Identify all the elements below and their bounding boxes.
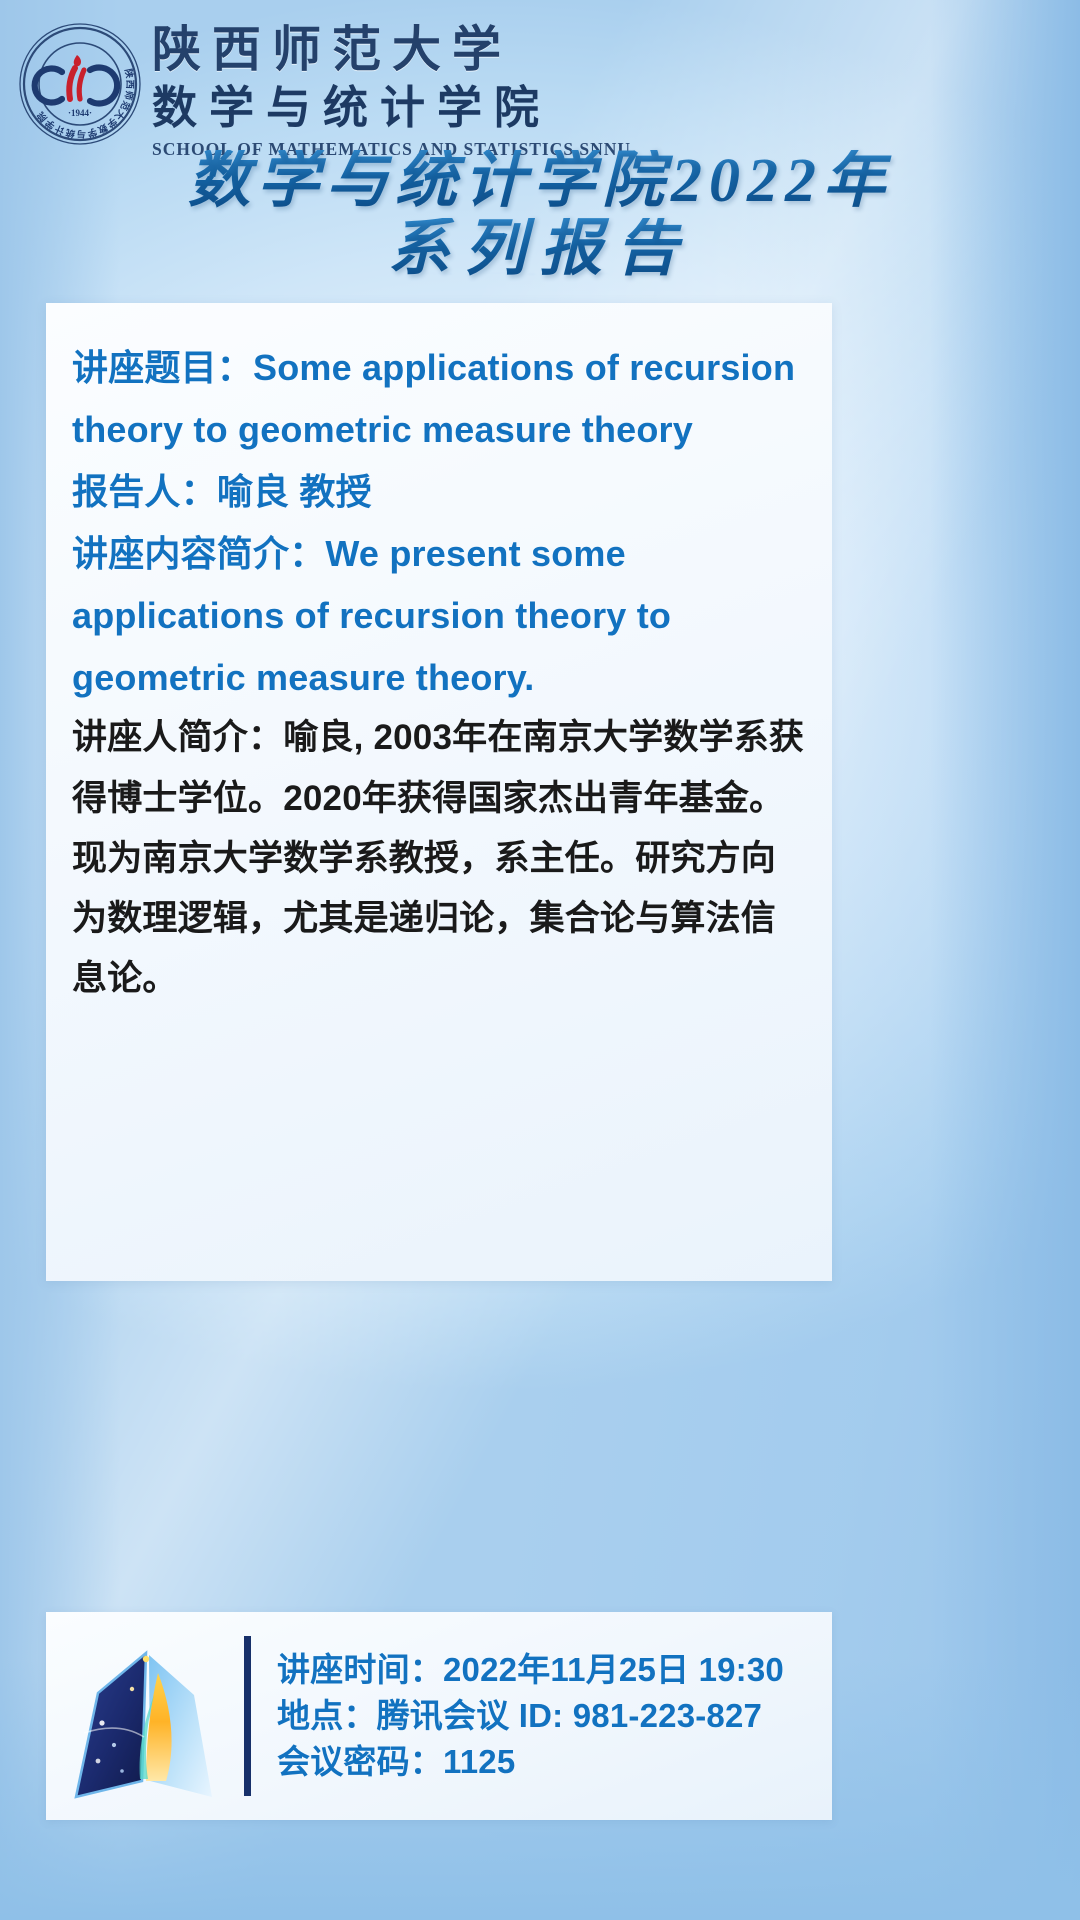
- meeting-password-label: 会议密码：: [277, 1743, 443, 1780]
- lecture-bio-label: 讲座人简介：: [72, 718, 283, 757]
- lecture-details-card: 讲座题目：Some applications of recursion theo…: [46, 303, 832, 1281]
- series-banner: 数学与统计学院2022年 系列报告 系列报告: [0, 150, 1080, 318]
- school-name-cn: 数学与统计学院: [152, 82, 631, 134]
- lecture-place-row: 地点：腾讯会议 ID: 981-223-827: [277, 1693, 832, 1739]
- lecture-place-value: 腾讯会议 ID: 981-223-827: [377, 1697, 762, 1734]
- lecture-topic-row: 讲座题目：Some applications of recursion theo…: [72, 337, 810, 461]
- meeting-info-bar: 讲座时间：2022年11月25日 19:30 地点：腾讯会议 ID: 981-2…: [46, 1612, 832, 1820]
- university-seal-logo: 陕西师范大学数学与统计学院 SCHOOL OF MATHEMATICS AND …: [18, 22, 142, 146]
- lecture-speaker-value: 喻良 教授: [217, 471, 372, 512]
- meeting-info-text: 讲座时间：2022年11月25日 19:30 地点：腾讯会议 ID: 981-2…: [277, 1647, 832, 1786]
- seal-year: ·1944·: [68, 108, 92, 118]
- lecture-time-value: 2022年11月25日 19:30: [443, 1651, 784, 1688]
- lecture-time-row: 讲座时间：2022年11月25日 19:30: [277, 1647, 832, 1693]
- open-book-icon: [54, 1629, 244, 1804]
- lecture-topic-label: 讲座题目：: [72, 347, 253, 388]
- lecture-time-label: 讲座时间：: [277, 1651, 443, 1688]
- lecture-speaker-label: 报告人：: [72, 471, 217, 512]
- svg-text:SCHOOL OF MATHEMATICS AND STAT: SCHOOL OF MATHEMATICS AND STATISTICS: [32, 145, 126, 146]
- poster-root: 陕西师范大学数学与统计学院 SCHOOL OF MATHEMATICS AND …: [0, 0, 1080, 1920]
- banner-line-1: 数学与统计学院2022年: [0, 150, 1080, 214]
- lecture-bio-row: 讲座人简介：喻良, 2003年在南京大学数学系获得博士学位。2020年获得国家杰…: [72, 708, 810, 1009]
- banner-reflection: 系列报告: [0, 267, 1080, 283]
- poster-header: 陕西师范大学数学与统计学院 SCHOOL OF MATHEMATICS AND …: [0, 0, 1080, 160]
- meeting-password-value: 1125: [443, 1743, 515, 1780]
- lecture-abstract-label: 讲座内容简介：: [72, 533, 325, 574]
- footer-divider: [244, 1636, 251, 1796]
- university-name-cn: 陕西师范大学: [152, 24, 631, 76]
- lecture-abstract-row: 讲座内容简介：We present some applications of r…: [72, 523, 810, 709]
- meeting-password-row: 会议密码：1125: [277, 1739, 832, 1785]
- lecture-bio-value: 喻良, 2003年在南京大学数学系获得博士学位。2020年获得国家杰出青年基金。…: [72, 718, 804, 998]
- lecture-place-label: 地点：: [277, 1697, 377, 1734]
- organization-block: 陕西师范大学 数学与统计学院 SCHOOL OF MATHEMATICS AND…: [152, 24, 631, 160]
- lecture-speaker-row: 报告人：喻良 教授: [72, 461, 810, 523]
